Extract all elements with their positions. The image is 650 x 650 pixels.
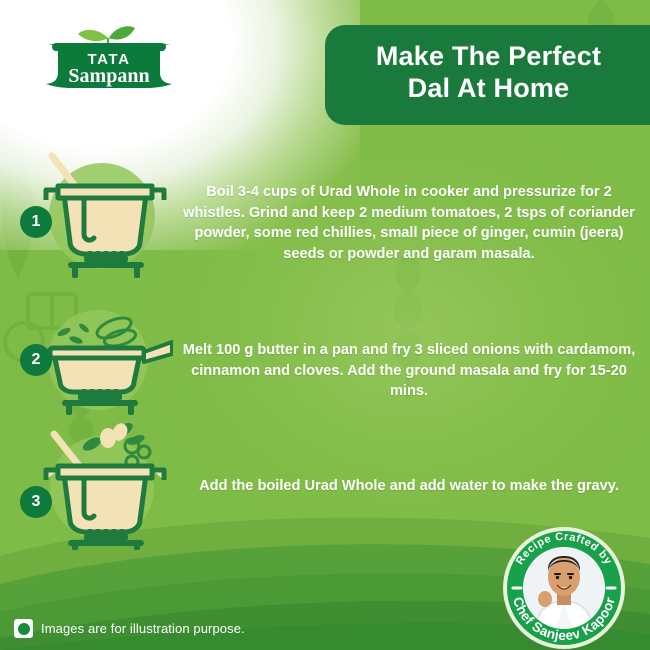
step-badge-1: 1 xyxy=(20,206,52,238)
title-line-2: Dal At Home xyxy=(376,73,601,105)
step-text-3: Add the boiled Urad Whole and add water … xyxy=(178,476,640,497)
step-number-3: 3 xyxy=(32,493,41,511)
leaf-sprout-icon xyxy=(78,26,135,44)
infographic-poster: TATA Sampann Make The Perfect Dal At Hom… xyxy=(0,0,650,650)
footer-disclaimer: Images are for illustration purpose. xyxy=(14,619,245,638)
page-title: Make The Perfect Dal At Home xyxy=(376,41,601,105)
logo-text-sampann: Sampann xyxy=(68,65,149,87)
step-badge-2: 2 xyxy=(20,344,52,376)
step-number-1: 1 xyxy=(32,213,41,231)
step-badge-3: 3 xyxy=(20,486,52,518)
tata-sampann-logo[interactable]: TATA Sampann xyxy=(36,22,181,94)
chef-recipe-badge[interactable]: Recipe Crafted by Chef Sanjeev Kapoor xyxy=(503,527,625,649)
title-banner: Make The Perfect Dal At Home xyxy=(325,25,650,125)
vegetarian-mark-icon xyxy=(14,619,33,638)
title-line-1: Make The Perfect xyxy=(376,41,601,73)
pot-with-ingredients-icon xyxy=(28,420,173,550)
disclaimer-text: Images are for illustration purpose. xyxy=(41,621,245,636)
step-number-2: 2 xyxy=(32,351,41,369)
step-text-2: Melt 100 g butter in a pan and fry 3 sli… xyxy=(178,340,640,402)
step-text-1: Boil 3-4 cups of Urad Whole in cooker an… xyxy=(178,182,640,265)
